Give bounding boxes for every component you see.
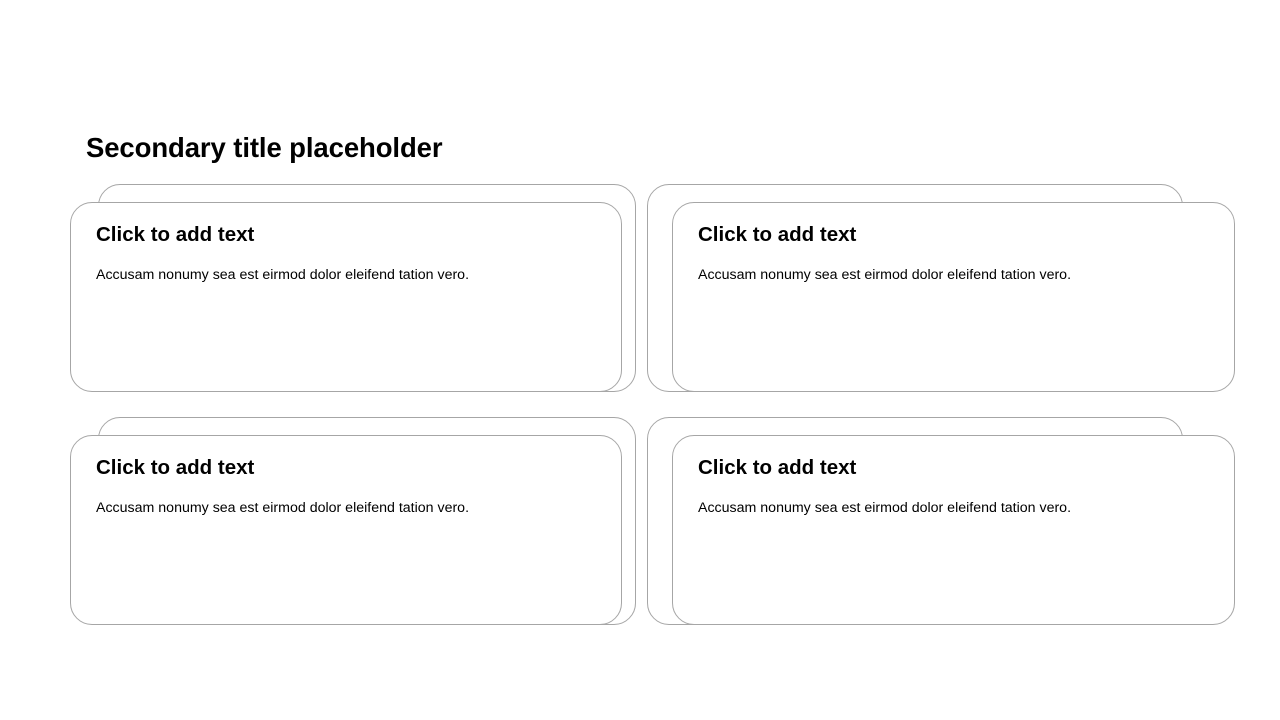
card-content: Click to add text Accusam nonumy sea est…	[70, 202, 674, 285]
card-body-text[interactable]: Accusam nonumy sea est eirmod dolor elei…	[698, 265, 1261, 285]
content-card[interactable]: Click to add text Accusam nonumy sea est…	[647, 417, 1210, 643]
card-content: Click to add text Accusam nonumy sea est…	[672, 202, 1280, 285]
page-title[interactable]: Secondary title placeholder	[86, 130, 1186, 166]
card-heading[interactable]: Click to add text	[698, 222, 1261, 248]
content-card[interactable]: Click to add text Accusam nonumy sea est…	[70, 417, 636, 643]
card-body-text[interactable]: Accusam nonumy sea est eirmod dolor elei…	[96, 498, 648, 518]
card-content: Click to add text Accusam nonumy sea est…	[70, 435, 674, 518]
content-card[interactable]: Click to add text Accusam nonumy sea est…	[70, 184, 636, 410]
card-body-text[interactable]: Accusam nonumy sea est eirmod dolor elei…	[96, 265, 648, 285]
card-heading[interactable]: Click to add text	[698, 455, 1261, 481]
card-content: Click to add text Accusam nonumy sea est…	[672, 435, 1280, 518]
slide-canvas: Secondary title placeholder Click to add…	[0, 0, 1280, 720]
card-body-text[interactable]: Accusam nonumy sea est eirmod dolor elei…	[698, 498, 1261, 518]
card-heading[interactable]: Click to add text	[96, 222, 648, 248]
card-heading[interactable]: Click to add text	[96, 455, 648, 481]
content-card[interactable]: Click to add text Accusam nonumy sea est…	[647, 184, 1210, 410]
